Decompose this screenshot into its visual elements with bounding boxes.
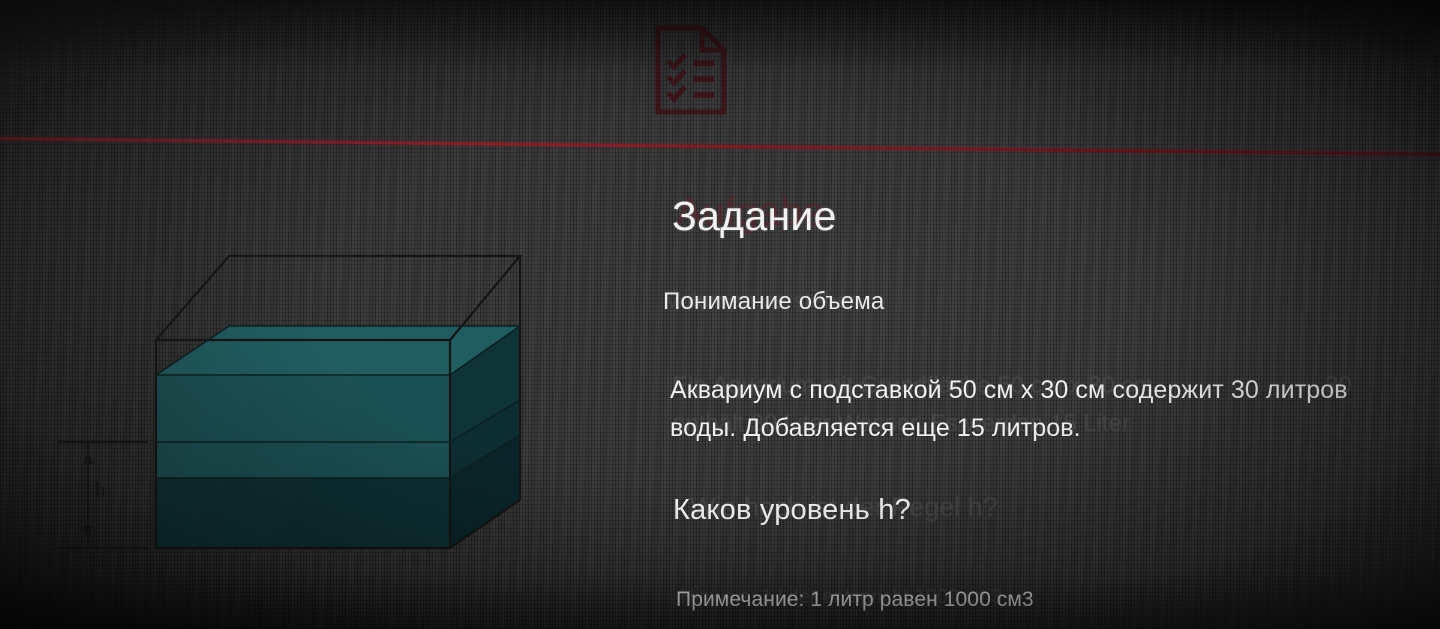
aquarium-prism-diagram [0, 230, 600, 590]
presentation-slide-screen: Aufgabe Volumen verstehen Ein Aquarium m… [0, 0, 1440, 629]
problem-statement: Аквариум с подставкой 50 см x 30 см соде… [670, 371, 1370, 447]
problem-question: Каков уровень h? [673, 494, 911, 527]
slide-subtitle: Понимание объема [663, 288, 884, 316]
page-title: Задание [672, 193, 837, 240]
height-label-h: h [95, 478, 106, 503]
checklist-document-icon [652, 24, 730, 116]
problem-note: Примечание: 1 литр равен 1000 см3 [676, 588, 1034, 612]
